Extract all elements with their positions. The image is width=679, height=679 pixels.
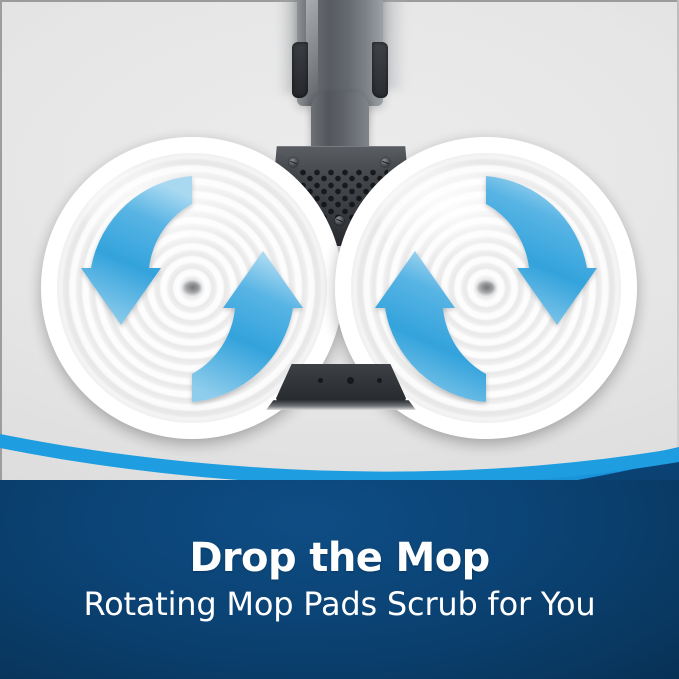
base-lower-hole-row xyxy=(318,376,382,384)
swivel-pivot-right xyxy=(372,42,388,98)
swivel-neck-joint xyxy=(311,92,369,154)
base-hole-icon xyxy=(318,378,323,383)
swivel-pivot-left xyxy=(292,42,308,98)
base-hole-icon xyxy=(347,377,354,384)
screw-top-left-icon xyxy=(289,158,298,167)
pad-gloss-highlight xyxy=(379,164,551,265)
copy-panel: Drop the Mop Rotating Mop Pads Scrub for… xyxy=(0,480,679,679)
subheadline: Rotating Mop Pads Scrub for You xyxy=(84,588,596,622)
base-foot-edge xyxy=(266,400,416,410)
screw-bottom-center-icon xyxy=(335,216,344,225)
pad-gloss-highlight xyxy=(85,164,257,265)
base-hole-icon xyxy=(377,378,382,383)
product-banner: Drop the Mop Rotating Mop Pads Scrub for… xyxy=(0,0,679,679)
screw-top-right-icon xyxy=(381,158,390,167)
headline: Drop the Mop xyxy=(189,538,489,578)
